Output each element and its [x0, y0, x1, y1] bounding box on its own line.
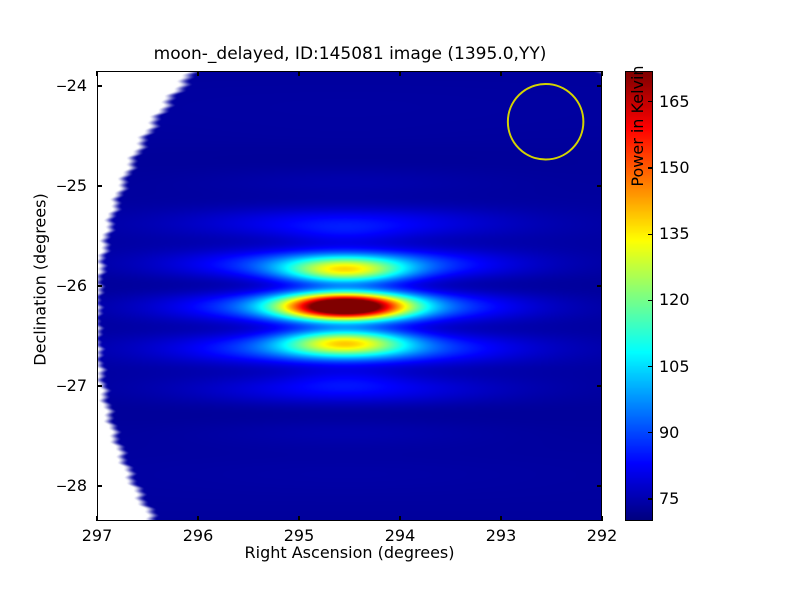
colorbar-label: Power in Kelvin [628, 6, 647, 246]
x-tick-mark [298, 516, 299, 521]
colorbar-tick-label: 120 [659, 291, 690, 309]
x-tick-mark [399, 516, 400, 521]
x-tick-mark-top [601, 71, 602, 76]
colorbar-tick-mark [648, 101, 653, 102]
colorbar-tick-label: 150 [659, 159, 690, 177]
y-tick-mark-right [597, 285, 602, 286]
colorbar-tick-label: 75 [659, 490, 679, 508]
x-tick-mark-top [298, 71, 299, 76]
colorbar-tick-mark [648, 300, 653, 301]
colorbar-tick-label: 165 [659, 93, 690, 111]
x-axis-label: Right Ascension (degrees) [97, 543, 602, 562]
annotation-overlay [98, 72, 601, 520]
y-tick-mark-right [597, 185, 602, 186]
y-tick-label: ‒24 [27, 77, 87, 95]
moon-disk-circle [508, 84, 583, 159]
y-tick-mark-right [597, 385, 602, 386]
x-tick-mark [96, 516, 97, 521]
y-tick-mark [97, 485, 102, 486]
x-tick-mark-top [500, 71, 501, 76]
x-tick-mark-top [399, 71, 400, 76]
y-tick-mark [97, 285, 102, 286]
x-tick-mark-top [197, 71, 198, 76]
y-tick-label: ‒28 [27, 477, 87, 495]
y-tick-mark [97, 85, 102, 86]
y-tick-label: ‒27 [27, 377, 87, 395]
colorbar-tick-label: 105 [659, 358, 690, 376]
colorbar-tick-label: 135 [659, 225, 690, 243]
y-tick-mark [97, 385, 102, 386]
y-tick-mark-right [597, 485, 602, 486]
colorbar-tick-mark [648, 432, 653, 433]
colorbar-tick-mark [648, 498, 653, 499]
figure-canvas: moon-_delayed, ID:145081 image (1395.0,Y… [0, 0, 800, 600]
colorbar-tick-mark [648, 167, 653, 168]
y-axis-label: Declination (degrees) [31, 180, 50, 380]
image-axes[interactable] [97, 71, 602, 521]
y-tick-mark [97, 185, 102, 186]
x-tick-mark-top [96, 71, 97, 76]
colorbar-tick-label: 90 [659, 424, 679, 442]
colorbar-tick-mark [648, 366, 653, 367]
y-tick-mark-right [597, 85, 602, 86]
plot-title: moon-_delayed, ID:145081 image (1395.0,Y… [97, 44, 603, 64]
x-tick-mark [601, 516, 602, 521]
colorbar-tick-mark [648, 234, 653, 235]
x-tick-mark [197, 516, 198, 521]
x-tick-mark [500, 516, 501, 521]
